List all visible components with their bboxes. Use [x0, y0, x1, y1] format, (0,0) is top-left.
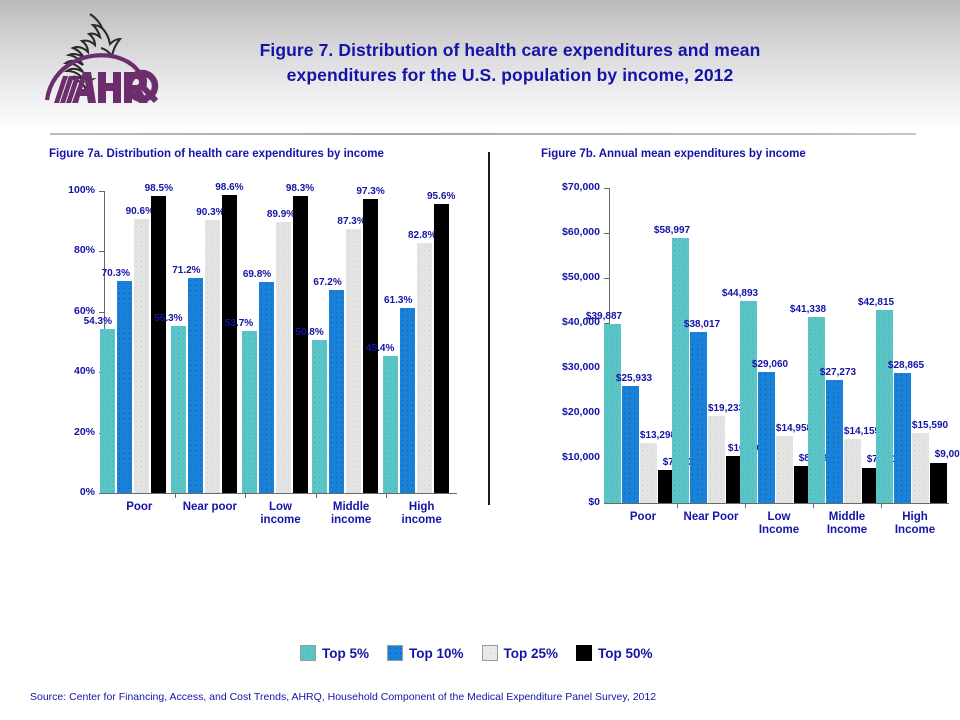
legend-item-top25: Top 25% [482, 645, 559, 661]
chart-a-title: Figure 7a. Distribution of health care e… [49, 148, 384, 160]
bar-figure-7b-1-0 [672, 238, 689, 503]
bar-figure-7a-3-1 [329, 290, 344, 493]
bar-figure-7b-0-0 [604, 324, 621, 503]
y-axis-tick-label: $60,000 [562, 226, 600, 238]
legend-label-top10: Top 10% [409, 646, 464, 661]
bar-value-label: 67.2% [305, 277, 351, 288]
bar-figure-7b-3-2 [844, 439, 861, 503]
bar-figure-7a-1-2 [205, 220, 220, 493]
chart-legend: Top 5% Top 10% Top 25% Top 50% [300, 645, 653, 661]
bar-value-label: $27,273 [812, 367, 864, 378]
x-axis-tick [813, 503, 814, 508]
bar-figure-7b-4-2 [912, 433, 929, 503]
figure-7b-chart: $0$10,000$20,000$30,000$40,000$50,000$60… [541, 178, 951, 532]
header-divider-rule [50, 133, 916, 135]
bar-value-label: $38,017 [676, 319, 728, 330]
y-axis-tick-label: $0 [588, 496, 600, 508]
y-axis-tick-label: $50,000 [562, 271, 600, 283]
bar-figure-7b-2-0 [740, 301, 757, 503]
y-axis-tick [99, 493, 104, 494]
source-note: Source: Center for Financing, Access, an… [30, 691, 656, 703]
y-axis-tick-label: $20,000 [562, 406, 600, 418]
bar-value-label: $28,865 [880, 360, 932, 371]
ahrq-logo-svg [30, 8, 160, 108]
bar-value-label: $29,060 [744, 359, 796, 370]
page-title-line-1: Figure 7. Distribution of health care ex… [210, 38, 810, 63]
legend-swatch-icon-top25 [482, 645, 498, 661]
bar-figure-7b-4-1 [894, 373, 911, 503]
y-axis-tick-label: 60% [74, 305, 95, 317]
x-axis-tick [245, 493, 246, 498]
bar-figure-7b-1-1 [690, 332, 707, 503]
bar-figure-7a-4-2 [417, 243, 432, 493]
legend-item-top10: Top 10% [387, 645, 464, 661]
x-axis-category-label: LowIncome [745, 511, 813, 537]
bar-value-label: $58,997 [646, 225, 698, 236]
bar-figure-7a-2-1 [259, 282, 274, 493]
chart-b-title: Figure 7b. Annual mean expenditures by i… [541, 148, 806, 160]
bar-value-label: $9,003 [924, 449, 960, 460]
bar-value-label: 98.5% [136, 183, 182, 194]
bar-figure-7a-3-2 [346, 229, 361, 493]
legend-swatch-icon-top50 [576, 645, 592, 661]
bar-figure-7a-2-3 [293, 196, 308, 493]
page-title: Figure 7. Distribution of health care ex… [210, 38, 810, 88]
bar-value-label: 98.3% [277, 183, 323, 194]
x-axis-tick [316, 493, 317, 498]
bar-figure-7a-0-2 [134, 219, 149, 493]
bar-value-label: $39,887 [578, 311, 630, 322]
y-axis-tick-label: 0% [80, 486, 95, 498]
bar-figure-7a-4-3 [434, 204, 449, 493]
y-axis-tick [604, 278, 609, 279]
bar-figure-7b-3-0 [808, 317, 825, 503]
bar-figure-7a-4-1 [400, 308, 415, 493]
y-axis-tick-label: 100% [68, 184, 95, 196]
x-axis-tick [745, 503, 746, 508]
figure-7a-chart: 0%20%40%60%80%100%54.3%70.3%90.6%98.5%Po… [49, 182, 469, 532]
bar-value-label: 71.2% [163, 265, 209, 276]
bar-value-label: 45.4% [357, 343, 403, 354]
x-axis-tick [175, 493, 176, 498]
bar-figure-7b-2-1 [758, 372, 775, 503]
y-axis-tick-label: 20% [74, 426, 95, 438]
y-axis-tick-label: 40% [74, 365, 95, 377]
bar-value-label: $41,338 [782, 304, 834, 315]
bar-value-label: 53.7% [216, 318, 262, 329]
bar-figure-7a-1-0 [171, 326, 186, 493]
panel-divider-line [488, 152, 490, 505]
y-axis-tick-label: $10,000 [562, 451, 600, 463]
bar-figure-7a-1-1 [188, 278, 203, 493]
bar-value-label: 97.3% [348, 186, 394, 197]
y-axis-tick [604, 188, 609, 189]
bar-figure-7b-3-1 [826, 380, 843, 503]
y-axis-tick [99, 251, 104, 252]
x-axis-category-label: MiddleIncome [813, 511, 881, 537]
x-axis-tick [386, 493, 387, 498]
x-axis-category-label: Highincome [386, 501, 457, 527]
x-axis-tick [677, 503, 678, 508]
bar-value-label: $15,590 [904, 420, 956, 431]
y-axis-tick-label: $30,000 [562, 361, 600, 373]
y-axis-tick [604, 233, 609, 234]
bar-figure-7a-0-3 [151, 196, 166, 493]
legend-swatch-icon-top5 [300, 645, 316, 661]
bar-value-label: $44,893 [714, 288, 766, 299]
legend-label-top25: Top 25% [504, 646, 559, 661]
bar-value-label: 54.3% [75, 316, 121, 327]
bar-value-label: 61.3% [375, 295, 421, 306]
x-axis-line [609, 503, 949, 504]
bar-value-label: 55.3% [145, 313, 191, 324]
bar-figure-7b-1-2 [708, 416, 725, 503]
bar-value-label: 95.6% [418, 191, 464, 202]
x-axis-category-label: Lowincome [245, 501, 316, 527]
legend-swatch-icon-top10 [387, 645, 403, 661]
bar-figure-7b-0-2 [640, 443, 657, 503]
x-axis-category-label: Poor [609, 511, 677, 524]
bar-figure-7a-1-3 [222, 195, 237, 493]
y-axis-tick-label: $70,000 [562, 181, 600, 193]
x-axis-category-label: Near poor [175, 501, 246, 514]
bar-figure-7a-2-2 [276, 222, 291, 493]
bar-figure-7b-2-2 [776, 436, 793, 503]
bar-value-label: $25,933 [608, 373, 660, 384]
ahrq-wordmark [47, 55, 156, 103]
bar-value-label: 70.3% [93, 268, 139, 279]
bar-figure-7a-2-0 [242, 331, 257, 493]
bar-figure-7a-3-0 [312, 340, 327, 493]
y-axis-tick [604, 503, 609, 504]
bar-figure-7b-4-0 [876, 310, 893, 503]
legend-label-top5: Top 5% [322, 646, 369, 661]
legend-item-top5: Top 5% [300, 645, 369, 661]
hhs-eagle-icon [66, 14, 120, 90]
bar-figure-7a-0-1 [117, 281, 132, 493]
y-axis-tick [99, 191, 104, 192]
legend-item-top50: Top 50% [576, 645, 653, 661]
bar-figure-7b-0-1 [622, 386, 639, 503]
page-title-line-2: expenditures for the U.S. population by … [210, 63, 810, 88]
bar-value-label: 69.8% [234, 269, 280, 280]
bar-figure-7a-0-0 [100, 329, 115, 493]
bar-value-label: $42,815 [850, 297, 902, 308]
x-axis-line [104, 493, 457, 494]
x-axis-tick [881, 503, 882, 508]
x-axis-category-label: Middleincome [316, 501, 387, 527]
y-axis-tick-label: 80% [74, 244, 95, 256]
bar-value-label: 50.8% [287, 327, 333, 338]
y-axis-tick [99, 312, 104, 313]
x-axis-category-label: Poor [104, 501, 175, 514]
bar-figure-7b-4-3 [930, 463, 947, 504]
x-axis-category-label: HighIncome [881, 511, 949, 537]
x-axis-category-label: Near Poor [677, 511, 745, 524]
legend-label-top50: Top 50% [598, 646, 653, 661]
ahrq-logo [30, 8, 160, 108]
bar-value-label: 98.6% [206, 182, 252, 193]
bar-figure-7a-4-0 [383, 356, 398, 493]
